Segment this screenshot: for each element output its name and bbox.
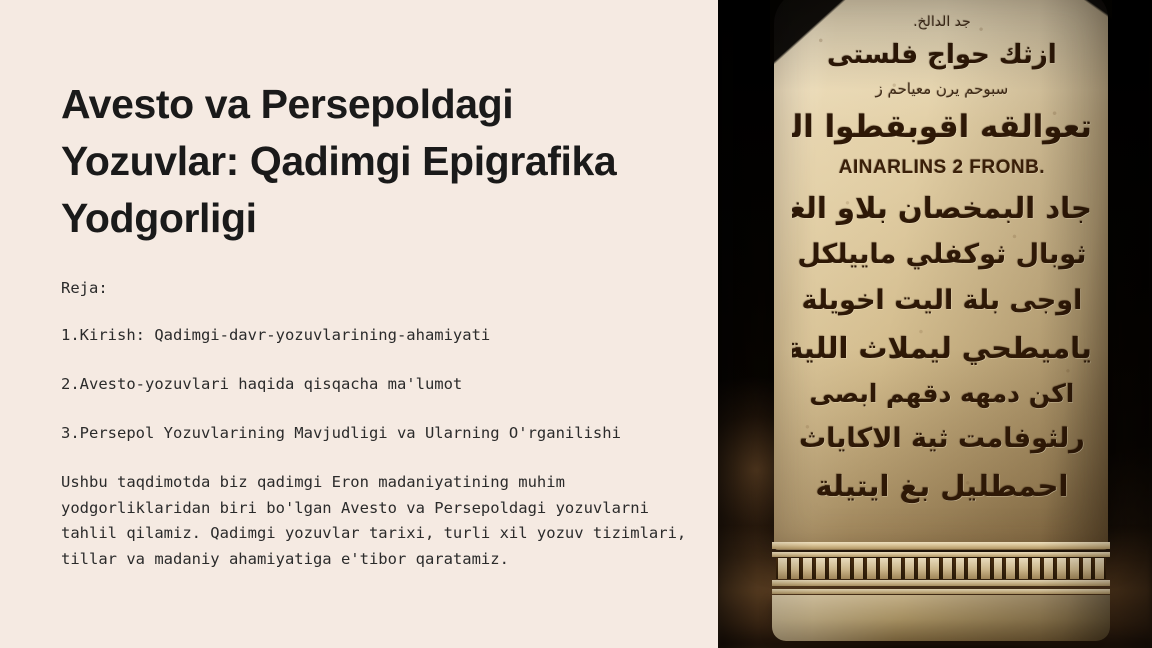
list-item: 2.Avesto-yozuvlari haqida qisqacha ma'lu…	[61, 373, 711, 395]
base-band	[772, 552, 1110, 557]
dentil-block	[905, 558, 914, 579]
dentil-block	[867, 558, 876, 579]
dentil-block	[829, 558, 838, 579]
stele-photograph: جد الدالخ. ازثك حواج فلستى سبوحم يرن معي…	[718, 0, 1152, 648]
page-title: Avesto va Persepoldagi Yozuvlar: Qadimgi…	[61, 76, 676, 247]
inscription-line: تعوالقه اقوبقطوا الصلتان	[792, 103, 1092, 151]
dentil-block	[854, 558, 863, 579]
base-band	[772, 580, 1110, 586]
list-item: 3.Persepol Yozuvlarining Mavjudligi va U…	[61, 422, 711, 444]
outline-list: 1.Kirish: Qadimgi-davr-yozuvlarining-aha…	[61, 324, 711, 471]
inscription-line: جد الدالخ.	[792, 12, 1092, 33]
inscription-line: جاد البمخصان بلاو الغدية	[792, 185, 1092, 231]
dentil-block	[892, 558, 901, 579]
base-band	[772, 542, 1110, 549]
dentil-block	[968, 558, 977, 579]
dentil-block	[791, 558, 800, 579]
dentil-block	[1070, 558, 1079, 579]
dentil-block	[1083, 558, 1092, 579]
dentil-block	[880, 558, 889, 579]
dentil-block	[918, 558, 927, 579]
base-plinth	[772, 595, 1110, 641]
dentil-block	[956, 558, 965, 579]
inscription-line: اكن دمهه دقهم ابصى	[792, 373, 1092, 415]
inscription-line: رلثوفامت ثية الاكاياث	[792, 417, 1092, 461]
stele-body: جد الدالخ. ازثك حواج فلستى سبوحم يرن معي…	[774, 0, 1108, 550]
intro-paragraph: Ushbu taqdimotda biz qadimgi Eron madani…	[61, 470, 701, 572]
dentil-block	[1044, 558, 1053, 579]
dentil-block	[841, 558, 850, 579]
text-panel: Avesto va Persepoldagi Yozuvlar: Qadimgi…	[0, 0, 718, 648]
dentil-block	[930, 558, 939, 579]
list-item: 1.Kirish: Qadimgi-davr-yozuvlarining-aha…	[61, 324, 711, 346]
inscription-line: سبوحم يرن معياحم ز	[792, 77, 1092, 101]
dentil-block	[1032, 558, 1041, 579]
stone-stele: جد الدالخ. ازثك حواج فلستى سبوحم يرن معي…	[774, 0, 1108, 606]
dentil-block	[1057, 558, 1066, 579]
dentil-block	[1095, 558, 1104, 579]
dentil-block	[943, 558, 952, 579]
dentil-frieze	[776, 558, 1106, 579]
presentation-slide: Avesto va Persepoldagi Yozuvlar: Qadimgi…	[0, 0, 1152, 648]
inscription-line: احمطليل بغ ايتيلة	[792, 463, 1092, 509]
dentil-block	[1006, 558, 1015, 579]
inscription-line: اوجى بلة اليت اخويلة	[792, 279, 1092, 323]
dentil-block	[994, 558, 1003, 579]
inscription-line-latin: AINARLINS 2 FRONB.	[792, 153, 1092, 183]
stele-base-molding	[772, 542, 1110, 606]
inscription-line: ازثك حواج فلستى	[792, 35, 1092, 75]
dentil-block	[981, 558, 990, 579]
dentil-block	[778, 558, 787, 579]
dentil-block	[816, 558, 825, 579]
base-band	[772, 589, 1110, 594]
inscription-line: ثوبال ثوكفلي ماييلكل	[792, 233, 1092, 277]
inscription-text-block: جد الدالخ. ازثك حواج فلستى سبوحم يرن معي…	[792, 12, 1092, 522]
outline-label: Reja:	[61, 277, 108, 299]
inscription-line: ياميطحي ليملاث اللية	[792, 325, 1092, 371]
dentil-block	[1019, 558, 1028, 579]
dentil-block	[803, 558, 812, 579]
